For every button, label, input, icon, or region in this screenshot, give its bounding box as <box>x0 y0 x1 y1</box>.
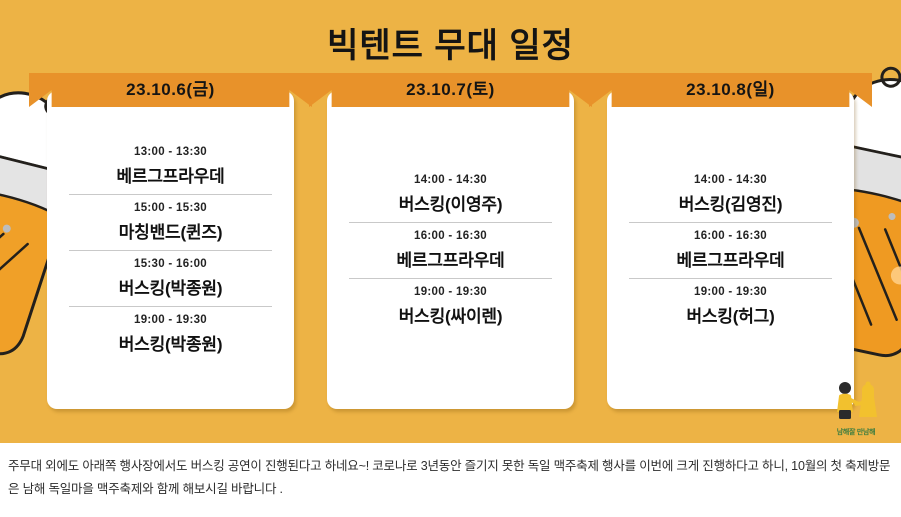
date-ribbon-3: 23.10.8(일) <box>589 73 872 107</box>
poster-caption: 주무대 외에도 아래쪽 행사장에서도 버스킹 공연이 진행된다고 하네요~! 코… <box>0 443 901 501</box>
schedule-slot: 15:30 - 16:00 버스킹(박종원) <box>69 250 272 306</box>
schedule-slot: 16:00 - 16:30 베르그프라우데 <box>629 222 832 278</box>
slot-act: 버스킹(김영진) <box>629 190 832 215</box>
slot-time: 16:00 - 16:30 <box>349 230 552 242</box>
schedule-slot: 13:00 - 13:30 베르그프라우데 <box>69 139 272 194</box>
slot-time: 14:00 - 14:30 <box>349 174 552 186</box>
slot-act: 버스킹(이영주) <box>349 190 552 215</box>
mascot-caption: 남해잘 만남해 <box>825 427 887 437</box>
slot-act: 베르그프라우데 <box>69 162 272 187</box>
slot-time: 14:00 - 14:30 <box>629 174 832 186</box>
event-poster: 빅텐트 무대 일정 23.10.6(금) 13:00 - 13:30 베르그프라… <box>0 0 901 443</box>
schedule-slot: 14:00 - 14:30 버스킹(이영주) <box>349 167 552 222</box>
schedule-columns: 23.10.6(금) 13:00 - 13:30 베르그프라우데 15:00 -… <box>0 91 901 409</box>
slot-time: 19:00 - 19:30 <box>69 314 272 326</box>
slot-act: 버스킹(허그) <box>629 302 832 327</box>
slot-act: 버스킹(박종원) <box>69 330 272 355</box>
slot-time: 19:00 - 19:30 <box>349 286 552 298</box>
date-ribbon-1: 23.10.6(금) <box>29 73 312 107</box>
slot-time: 16:00 - 16:30 <box>629 230 832 242</box>
mascot-logo: 남해잘 만남해 <box>825 379 887 437</box>
day-card-1: 23.10.6(금) 13:00 - 13:30 베르그프라우데 15:00 -… <box>47 91 294 409</box>
schedule-slot: 19:00 - 19:30 버스킹(싸이렌) <box>349 278 552 334</box>
slot-time: 15:30 - 16:00 <box>69 258 272 270</box>
schedule-slot: 16:00 - 16:30 베르그프라우데 <box>349 222 552 278</box>
day-card-3: 23.10.8(일) 14:00 - 14:30 버스킹(김영진) 16:00 … <box>607 91 854 409</box>
slot-time: 13:00 - 13:30 <box>69 146 272 158</box>
couple-mascot-icon <box>828 379 884 421</box>
schedule-slot: 14:00 - 14:30 버스킹(김영진) <box>629 167 832 222</box>
schedule-slot: 15:00 - 15:30 마칭밴드(퀸즈) <box>69 194 272 250</box>
slot-time: 15:00 - 15:30 <box>69 202 272 214</box>
schedule-slot: 19:00 - 19:30 버스킹(박종원) <box>69 306 272 362</box>
slot-act: 베르그프라우데 <box>349 246 552 271</box>
page-title: 빅텐트 무대 일정 <box>0 0 901 67</box>
day-card-2: 23.10.7(토) 14:00 - 14:30 버스킹(이영주) 16:00 … <box>327 91 574 409</box>
schedule-slot: 19:00 - 19:30 버스킹(허그) <box>629 278 832 334</box>
date-ribbon-2: 23.10.7(토) <box>309 73 592 107</box>
slot-time: 19:00 - 19:30 <box>629 286 832 298</box>
slot-act: 베르그프라우데 <box>629 246 832 271</box>
slot-act: 마칭밴드(퀸즈) <box>69 218 272 243</box>
slot-act: 버스킹(싸이렌) <box>349 302 552 327</box>
slot-act: 버스킹(박종원) <box>69 274 272 299</box>
